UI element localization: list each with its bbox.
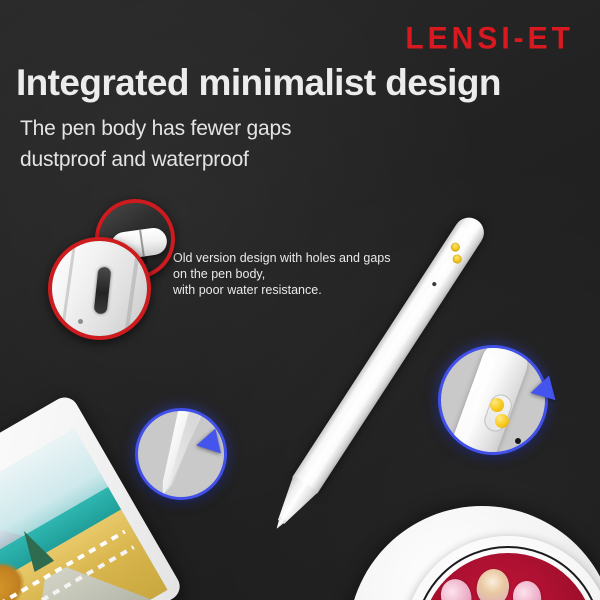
brand-logo: LENSI-ET	[405, 21, 574, 57]
page-title: Integrated minimalist design	[16, 62, 501, 104]
red-callout-port-scene	[52, 241, 147, 336]
old-pen-edge-right	[121, 237, 142, 340]
old-design-caption-line-1: Old version design with holes and gaps	[173, 250, 391, 266]
red-callout-circle-port	[48, 237, 151, 340]
old-pen-edge-left	[57, 237, 77, 340]
gold-contact-dot-1	[490, 398, 504, 412]
product-banner: LENSI-ET Integrated minimalist design Th…	[0, 0, 600, 600]
pen-sensor-dot	[515, 438, 521, 444]
blue-callout-circle-tip	[135, 408, 227, 500]
subtitle-line-1: The pen body has fewer gaps	[20, 117, 291, 141]
old-design-caption-line-3: with poor water resistance.	[173, 282, 391, 298]
subtitle-line-2: dustproof and waterproof	[20, 148, 249, 172]
old-design-caption-line-2: on the pen body,	[173, 266, 391, 282]
rose-bud	[511, 580, 542, 600]
rose-bud	[474, 566, 512, 600]
old-pen-charging-port	[94, 266, 112, 314]
old-design-caption: Old version design with holes and gaps o…	[173, 250, 391, 298]
blue-callout-circle-cap	[438, 345, 548, 455]
old-pen-pinhole	[78, 319, 83, 324]
gold-contact-dot-2	[495, 414, 509, 428]
